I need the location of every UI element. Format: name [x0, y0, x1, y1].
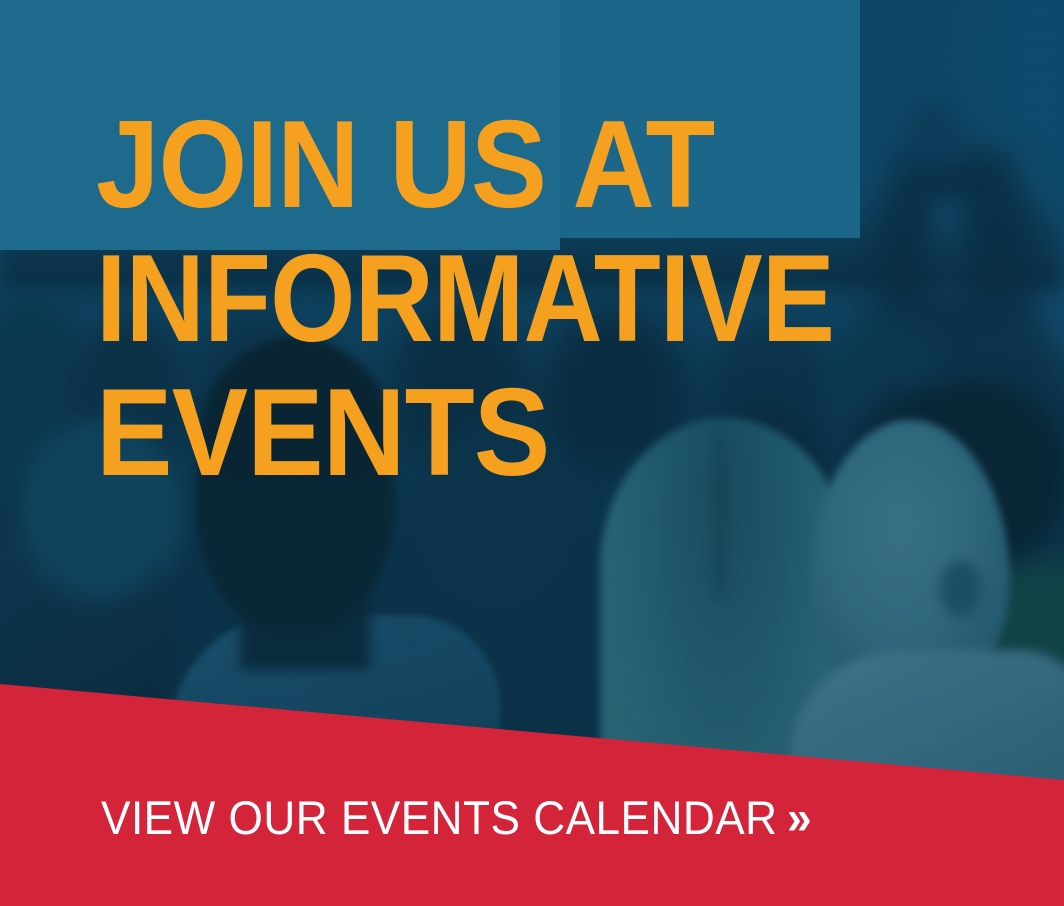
headline-line-3: EVENTS — [96, 366, 867, 500]
headline-line-2: INFORMATIVE — [96, 232, 834, 366]
headline: JOIN US AT INFORMATIVE EVENTS — [96, 98, 930, 500]
view-events-calendar-link[interactable]: VIEW OUR EVENTS CALENDAR» — [101, 793, 812, 843]
headline-line-1: JOIN US AT — [96, 98, 863, 232]
double-chevron-right-icon: » — [787, 791, 812, 844]
events-promo-banner: JOIN US AT INFORMATIVE EVENTS VIEW OUR E… — [0, 0, 1064, 906]
cta-label-text: VIEW OUR EVENTS CALENDAR — [101, 791, 778, 844]
